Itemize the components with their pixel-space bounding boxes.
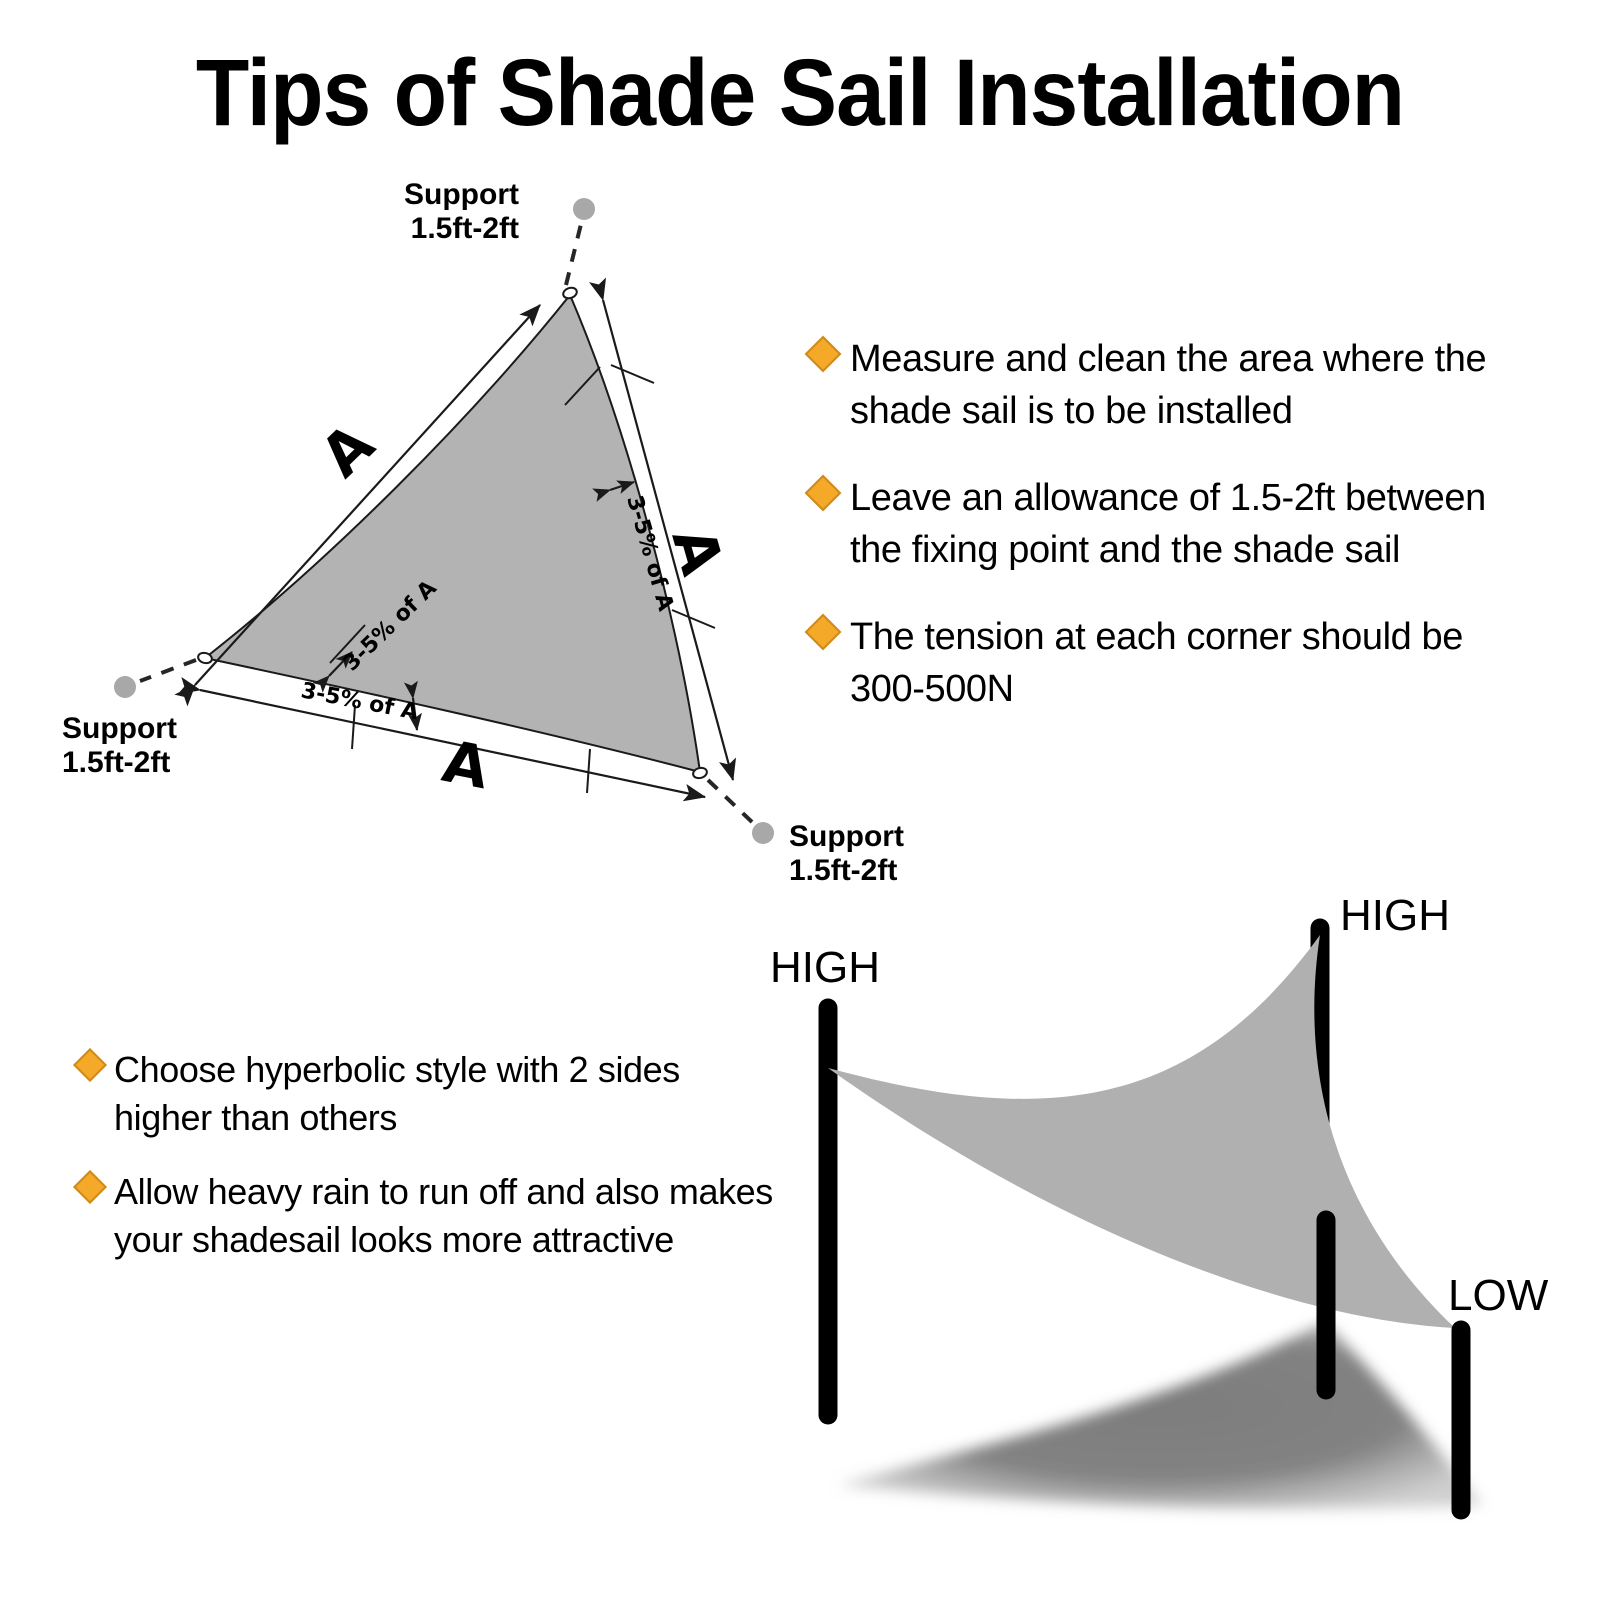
post-label-left-high: HIGH	[770, 943, 880, 992]
list-item: Leave an allowance of 1.5-2ft between th…	[810, 472, 1530, 577]
tips-list-left: Choose hyperbolic style with 2 sides hig…	[78, 1046, 778, 1290]
support-dashed-line-top	[566, 220, 582, 285]
page-title: Tips of Shade Sail Installation	[64, 46, 1536, 141]
support-anchor-bottom-right	[752, 822, 774, 844]
support-label-bl-line2: 1.5ft-2ft	[62, 746, 170, 779]
tip-text: Leave an allowance of 1.5-2ft between th…	[850, 472, 1530, 577]
tip-text: Choose hyperbolic style with 2 sides hig…	[114, 1046, 778, 1142]
edge-length-label-left: A	[307, 410, 387, 490]
support-anchor-bottom-left	[114, 676, 136, 698]
tip-text: Measure and clean the area where the sha…	[850, 333, 1530, 438]
support-label-top-line2: 1.5ft-2ft	[411, 212, 519, 245]
support-label-bl-line1: Support	[62, 712, 177, 745]
tip-text: Allow heavy rain to run off and also mak…	[114, 1168, 778, 1264]
list-item: Choose hyperbolic style with 2 sides hig…	[78, 1046, 778, 1142]
support-anchor-top	[573, 198, 595, 220]
tip-text: The tension at each corner should be 300…	[850, 611, 1530, 716]
diamond-icon	[805, 474, 842, 511]
list-item: Allow heavy rain to run off and also mak…	[78, 1168, 778, 1264]
diamond-icon	[73, 1170, 107, 1204]
diamond-icon	[805, 336, 842, 373]
support-label-top-line1: Support	[404, 178, 519, 211]
list-item: Measure and clean the area where the sha…	[810, 333, 1530, 438]
support-label-br-line1: Support	[789, 820, 904, 853]
edge-length-label-bottom: A	[437, 727, 494, 802]
support-dashed-line-bottom-left	[140, 660, 196, 681]
support-label-br-line2: 1.5ft-2ft	[789, 854, 897, 887]
post-label-top-right-high: HIGH	[1340, 891, 1450, 940]
edge-length-label-right: A	[659, 520, 737, 582]
hyperbolic-shade-sail-diagram: HIGH HIGH LOW	[740, 890, 1580, 1580]
post-label-right-low: LOW	[1448, 1271, 1549, 1320]
tips-list-right: Measure and clean the area where the sha…	[810, 333, 1530, 750]
sail-ground-shadow	[838, 1322, 1482, 1509]
support-dashed-line-bottom-right	[708, 780, 752, 822]
diamond-icon	[73, 1048, 107, 1082]
corner-ring-top	[562, 286, 579, 300]
diamond-icon	[805, 613, 842, 650]
hyperbolic-sail-surface	[828, 935, 1455, 1328]
list-item: The tension at each corner should be 300…	[810, 611, 1530, 716]
